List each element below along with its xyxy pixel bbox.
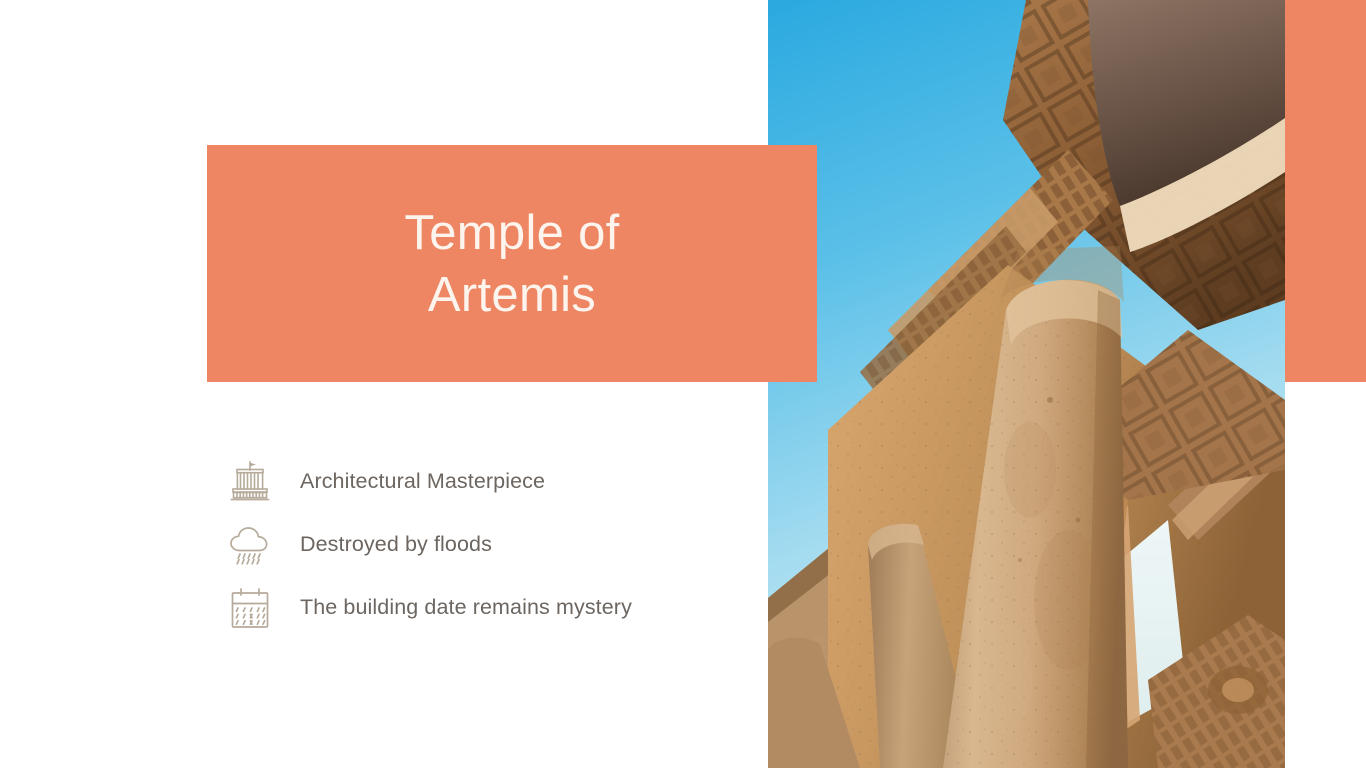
ruins-photo-artwork: [768, 0, 1285, 768]
list-item: Destroyed by floods: [222, 513, 782, 576]
title-block: Temple of Artemis: [207, 145, 817, 382]
right-accent-band: [1285, 0, 1366, 382]
list-item-label: Architectural Masterpiece: [300, 469, 545, 494]
list-item: The building date remains mystery: [222, 576, 782, 639]
list-item-label: The building date remains mystery: [300, 595, 632, 620]
calendar-icon: [222, 582, 278, 634]
ruins-photo: [768, 0, 1285, 768]
rain-cloud-icon: [222, 519, 278, 571]
feature-list: Architectural Masterpiece: [222, 450, 782, 639]
slide-title: Temple of Artemis: [404, 202, 619, 326]
list-item-label: Destroyed by floods: [300, 532, 492, 557]
slide-canvas: Temple of Artemis: [0, 0, 1366, 768]
classical-building-icon: [222, 456, 278, 508]
list-item: Architectural Masterpiece: [222, 450, 782, 513]
